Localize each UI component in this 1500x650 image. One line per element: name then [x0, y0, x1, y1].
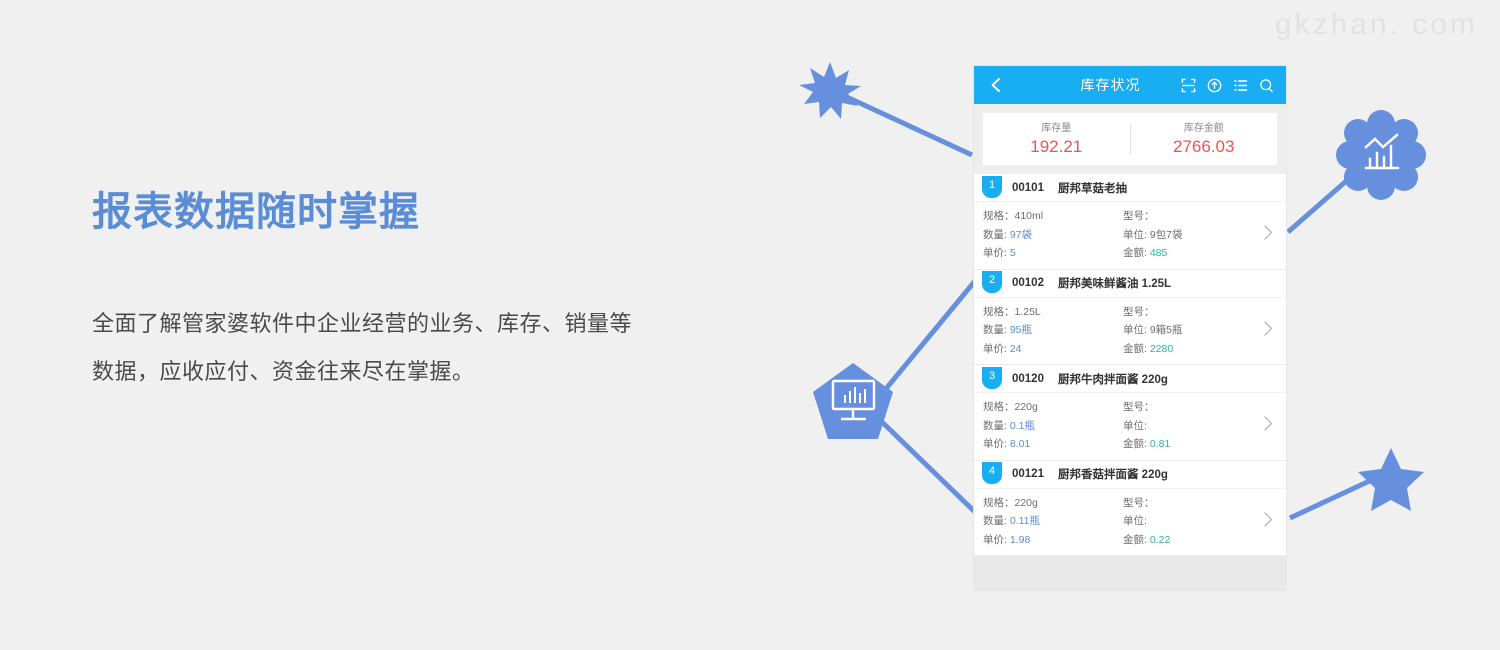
item-index-badge: 4 [982, 462, 1002, 484]
back-chevron-icon[interactable] [986, 75, 1006, 95]
item-right-column: 型号： 单位: 9箱5瓶 金额: 2280 [1123, 303, 1253, 359]
list-item-header: 2 00102 厨邦美味鲜酱油 1.25L [974, 270, 1286, 298]
item-code: 00102 [1012, 277, 1044, 289]
item-index-badge: 1 [982, 176, 1002, 198]
field-value: 485 [1150, 247, 1168, 259]
field-value: 9箱5瓶 [1150, 324, 1183, 336]
field-label: 单位: [1123, 229, 1147, 241]
field-label: 单价: [983, 343, 1007, 355]
field-label: 规格： [983, 306, 1015, 318]
field-amount: 金额: 485 [1123, 244, 1253, 263]
field-label: 单价: [983, 438, 1007, 450]
field-spec: 规格：410ml [983, 207, 1123, 226]
field-value: 1.25L [1015, 306, 1041, 318]
chart-badge-icon [1336, 110, 1426, 200]
summary-cell-amount: 库存金额 2766.03 [1131, 122, 1278, 157]
connector-line-right-lower [1290, 477, 1378, 518]
summary-label: 库存量 [983, 122, 1130, 136]
list-item-body: 规格：410ml 数量: 97袋 单价: 5 型号： 单位: 9包7袋 金额: … [974, 202, 1286, 269]
field-model: 型号： [1123, 303, 1253, 322]
field-label: 规格： [983, 497, 1015, 509]
chevron-right-icon[interactable] [1263, 320, 1274, 342]
field-label: 型号： [1123, 306, 1155, 318]
field-label: 金额: [1123, 534, 1147, 546]
page-description: 全面了解管家婆软件中企业经营的业务、库存、销量等数据，应收应付、资金往来尽在掌握… [92, 300, 632, 396]
field-label: 数量: [983, 420, 1007, 432]
list-icon[interactable] [1233, 78, 1248, 93]
item-right-column: 型号： 单位: 金额: 0.81 [1123, 398, 1253, 454]
field-quantity: 数量: 0.1瓶 [983, 417, 1123, 436]
field-model: 型号： [1123, 207, 1253, 226]
item-code: 00120 [1012, 373, 1044, 385]
field-value: 97袋 [1010, 229, 1032, 241]
arrow-up-circle-icon[interactable] [1207, 78, 1222, 93]
summary-value: 2766.03 [1131, 136, 1278, 157]
list-item[interactable]: 2 00102 厨邦美味鲜酱油 1.25L 规格：1.25L 数量: 95瓶 单… [974, 270, 1286, 366]
field-label: 数量: [983, 324, 1007, 336]
chevron-right-icon[interactable] [1263, 511, 1274, 533]
list-item-body: 规格：1.25L 数量: 95瓶 单价: 24 型号： 单位: 9箱5瓶 金额:… [974, 298, 1286, 365]
field-value: 220g [1015, 497, 1038, 509]
field-spec: 规格：220g [983, 494, 1123, 513]
field-value: 0.1瓶 [1010, 420, 1035, 432]
marketing-copy: 报表数据随时掌握 全面了解管家婆软件中企业经营的业务、库存、销量等数据，应收应付… [92, 190, 632, 396]
item-index-badge: 2 [982, 271, 1002, 293]
item-name: 厨邦牛肉拌面酱 220g [1058, 371, 1168, 387]
monitor-pentagon-icon [813, 363, 893, 439]
field-value: 8.01 [1010, 438, 1030, 450]
field-label: 型号： [1123, 210, 1155, 222]
field-label: 单位: [1123, 324, 1147, 336]
field-price: 单价: 24 [983, 340, 1123, 359]
field-value: 2280 [1150, 343, 1173, 355]
chevron-right-icon[interactable] [1263, 224, 1274, 246]
field-label: 型号： [1123, 401, 1155, 413]
list-item-header: 1 00101 厨邦草菇老抽 [974, 174, 1286, 202]
summary-label: 库存金额 [1131, 122, 1278, 136]
field-label: 金额: [1123, 247, 1147, 259]
field-value: 0.22 [1150, 534, 1170, 546]
item-right-column: 型号： 单位: 9包7袋 金额: 485 [1123, 207, 1253, 263]
connector-line-right-upper [1288, 176, 1352, 232]
item-index-badge: 3 [982, 367, 1002, 389]
field-unit: 单位: 9箱5瓶 [1123, 321, 1253, 340]
list-item[interactable]: 3 00120 厨邦牛肉拌面酱 220g 规格：220g 数量: 0.1瓶 单价… [974, 365, 1286, 461]
field-value: 0.11瓶 [1010, 515, 1040, 527]
summary-card: 库存量 192.21 库存金额 2766.03 [983, 113, 1277, 165]
field-label: 数量: [983, 229, 1007, 241]
field-model: 型号： [1123, 398, 1253, 417]
field-label: 单位: [1123, 515, 1147, 527]
field-spec: 规格：1.25L [983, 303, 1123, 322]
item-left-column: 规格：220g 数量: 0.11瓶 单价: 1.98 [974, 494, 1123, 550]
list-item[interactable]: 4 00121 厨邦香菇拌面酱 220g 规格：220g 数量: 0.11瓶 单… [974, 461, 1286, 557]
summary-section: 库存量 192.21 库存金额 2766.03 [974, 104, 1286, 165]
scan-icon[interactable] [1181, 78, 1196, 93]
star-icon [1358, 448, 1424, 511]
item-right-column: 型号： 单位: 金额: 0.22 [1123, 494, 1253, 550]
item-left-column: 规格：220g 数量: 0.1瓶 单价: 8.01 [974, 398, 1123, 454]
header-icon-group [1181, 78, 1274, 93]
item-name: 厨邦香菇拌面酱 220g [1058, 466, 1168, 482]
field-value: 220g [1015, 401, 1038, 413]
connector-line-top [836, 92, 972, 155]
field-amount: 金额: 0.22 [1123, 531, 1253, 550]
list-item-header: 4 00121 厨邦香菇拌面酱 220g [974, 461, 1286, 489]
field-label: 数量: [983, 515, 1007, 527]
field-label: 规格： [983, 210, 1015, 222]
field-label: 金额: [1123, 438, 1147, 450]
field-label: 型号： [1123, 497, 1155, 509]
connector-line-mid-upper [880, 281, 975, 396]
field-unit: 单位: 9包7袋 [1123, 226, 1253, 245]
field-quantity: 数量: 95瓶 [983, 321, 1123, 340]
field-unit: 单位: [1123, 512, 1253, 531]
field-price: 单价: 8.01 [983, 435, 1123, 454]
field-quantity: 数量: 97袋 [983, 226, 1123, 245]
item-name: 厨邦美味鲜酱油 1.25L [1058, 275, 1171, 291]
item-name: 厨邦草菇老抽 [1058, 180, 1127, 196]
item-left-column: 规格：1.25L 数量: 95瓶 单价: 24 [974, 303, 1123, 359]
field-model: 型号： [1123, 494, 1253, 513]
site-watermark: gkzhan. com [1275, 8, 1478, 42]
inventory-list: 1 00101 厨邦草菇老抽 规格：410ml 数量: 97袋 单价: 5 型号… [974, 174, 1286, 556]
list-item-body: 规格：220g 数量: 0.1瓶 单价: 8.01 型号： 单位: 金额: 0.… [974, 393, 1286, 460]
app-header: 库存状况 [974, 66, 1286, 104]
field-amount: 金额: 2280 [1123, 340, 1253, 359]
connector-line-mid-lower [880, 420, 975, 512]
field-value: 0.81 [1150, 438, 1170, 450]
list-item[interactable]: 1 00101 厨邦草菇老抽 规格：410ml 数量: 97袋 单价: 5 型号… [974, 174, 1286, 270]
field-price: 单价: 1.98 [983, 531, 1123, 550]
field-quantity: 数量: 0.11瓶 [983, 512, 1123, 531]
field-value: 410ml [1015, 210, 1044, 222]
search-icon[interactable] [1259, 78, 1274, 93]
field-label: 单位: [1123, 420, 1147, 432]
field-label: 单价: [983, 247, 1007, 259]
field-label: 金额: [1123, 343, 1147, 355]
item-code: 00121 [1012, 468, 1044, 480]
list-item-header: 3 00120 厨邦牛肉拌面酱 220g [974, 365, 1286, 393]
phone-mockup: 库存状况 [974, 66, 1286, 590]
field-value: 9包7袋 [1150, 229, 1183, 241]
field-label: 单价: [983, 534, 1007, 546]
field-amount: 金额: 0.81 [1123, 435, 1253, 454]
field-value: 24 [1010, 343, 1022, 355]
item-left-column: 规格：410ml 数量: 97袋 单价: 5 [974, 207, 1123, 263]
field-value: 1.98 [1010, 534, 1030, 546]
list-item-body: 规格：220g 数量: 0.11瓶 单价: 1.98 型号： 单位: 金额: 0… [974, 489, 1286, 556]
page-title: 报表数据随时掌握 [92, 190, 632, 234]
starburst-icon [799, 62, 861, 119]
summary-cell-quantity: 库存量 192.21 [983, 122, 1130, 157]
field-spec: 规格：220g [983, 398, 1123, 417]
field-value: 5 [1010, 247, 1016, 259]
summary-value: 192.21 [983, 136, 1130, 157]
list-empty-area [974, 556, 1286, 590]
field-price: 单价: 5 [983, 244, 1123, 263]
field-label: 规格： [983, 401, 1015, 413]
field-unit: 单位: [1123, 417, 1253, 436]
app-title: 库存状况 [1006, 75, 1181, 95]
field-value: 95瓶 [1010, 324, 1032, 336]
item-code: 00101 [1012, 182, 1044, 194]
chevron-right-icon[interactable] [1263, 415, 1274, 437]
